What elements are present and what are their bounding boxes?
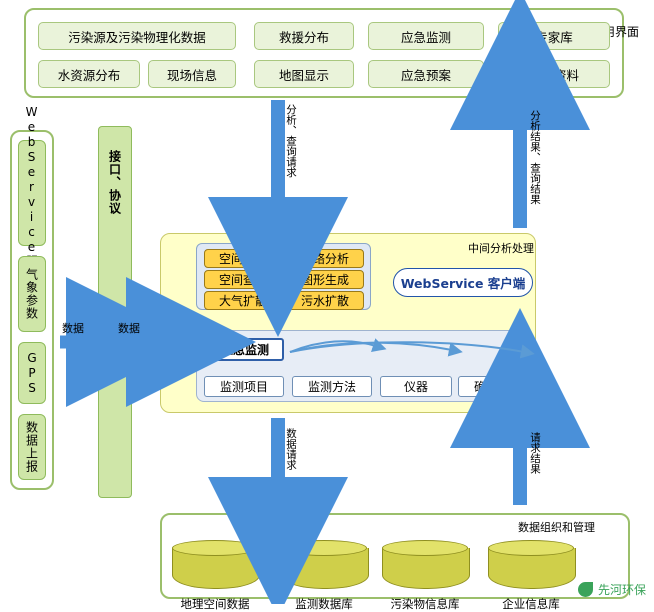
analysis-button-label: 空间分析 [219, 250, 267, 267]
left-item-label: WebService服务 [24, 105, 41, 281]
analysis-button-label: 网络分析 [301, 250, 349, 267]
arrow-label-data-right: 数据 [118, 320, 140, 336]
top-item-label: 污染源及污染物理化数据 [68, 27, 206, 46]
analysis-button-graphic-generation[interactable]: 图形生成 [286, 270, 364, 289]
arrow-label-query-result: 请求结果 [528, 432, 543, 474]
top-item-label: 专家库 [535, 27, 573, 46]
database-label: 污染物信息库 [377, 596, 473, 612]
database-enterprise-info[interactable]: 企业信息库 [488, 540, 574, 592]
cylinder-top [488, 540, 574, 556]
analysis-button-label: 空间查询 [219, 271, 267, 288]
top-item-rescue-distribution[interactable]: 救援分布 [254, 22, 354, 50]
top-item-emergency-plan[interactable]: 应急预案 [368, 60, 484, 88]
top-item-label: 应急预案 [401, 65, 451, 84]
data-management-label: 数据组织和管理 [518, 519, 628, 535]
top-item-label: 地图显示 [279, 65, 329, 84]
analysis-button-spatial-query[interactable]: 空间查询 [204, 270, 282, 289]
left-item-data-report[interactable]: 数据上报 [18, 414, 46, 480]
monitor-child-label: 仪器 [404, 378, 428, 395]
analysis-button-spatial-analysis[interactable]: 空间分析 [204, 249, 282, 268]
left-item-label: 数据上报 [24, 421, 41, 473]
monitor-child-determine-pollutant[interactable]: 确定污染物 [458, 376, 550, 397]
database-geospatial[interactable]: 地理空间数据 [172, 540, 258, 592]
top-item-label: 应急资料 [529, 65, 579, 84]
emergency-monitoring-node-label: 应急监测 [221, 341, 269, 358]
monitor-child-label: 确定污染物 [474, 378, 534, 395]
webservice-client-label: WebService 客户端 [401, 273, 526, 292]
cylinder-top [382, 540, 468, 556]
database-monitoring[interactable]: 监测数据库 [281, 540, 367, 592]
top-item-emergency-materials[interactable]: 应急资料 [498, 60, 610, 88]
database-label: 监测数据库 [276, 596, 372, 612]
top-item-label: 应急监测 [401, 27, 451, 46]
analysis-button-label: 图形生成 [301, 271, 349, 288]
left-item-label: 气象参数 [24, 268, 41, 320]
monitor-child-label: 监测方法 [308, 378, 356, 395]
top-item-expert-database[interactable]: 专家库 [498, 22, 610, 50]
analysis-button-network-analysis[interactable]: 网络分析 [286, 249, 364, 268]
top-item-label: 水资源分布 [58, 65, 121, 84]
top-item-emergency-monitoring[interactable]: 应急监测 [368, 22, 484, 50]
left-item-webservice[interactable]: WebService服务 [18, 140, 46, 246]
cylinder-top [281, 540, 367, 556]
arrow-label-analysis-result: 分析结果、查询结果 [528, 110, 543, 205]
monitor-child-method[interactable]: 监测方法 [292, 376, 372, 397]
diagram-canvas: 应用界面 污染源及污染物理化数据 救援分布 应急监测 专家库 水资源分布 现场信… [0, 0, 654, 604]
data-management-label-text: 数据组织和管理 [518, 521, 595, 534]
left-item-gps[interactable]: GPS [18, 342, 46, 404]
database-label: 地理空间数据 [167, 596, 263, 612]
analysis-button-label: 大气扩散 [219, 292, 267, 309]
middle-analysis-label: 中间分析处理 [468, 240, 558, 256]
monitor-child-label: 监测项目 [220, 378, 268, 395]
top-item-map-display[interactable]: 地图显示 [254, 60, 354, 88]
watermark: 先河环保 [578, 581, 646, 598]
left-item-label: GPS [25, 351, 39, 396]
analysis-button-label: 污水扩散 [301, 292, 349, 309]
monitor-child-project[interactable]: 监测项目 [204, 376, 284, 397]
arrow-label-data-request: 数据请求 [284, 428, 299, 470]
interface-protocol-label-text: 接口、协议 [107, 150, 124, 215]
webservice-client-node[interactable]: WebService 客户端 [393, 268, 533, 297]
analysis-button-sewage-diffusion[interactable]: 污水扩散 [286, 291, 364, 310]
middle-analysis-label-text: 中间分析处理 [468, 242, 534, 255]
cylinder-top [172, 540, 258, 556]
leaf-icon [578, 582, 593, 597]
top-item-site-info[interactable]: 现场信息 [148, 60, 236, 88]
emergency-monitoring-node[interactable]: 应急监测 [206, 338, 284, 361]
top-item-label: 救援分布 [279, 27, 329, 46]
top-item-water-resource-distribution[interactable]: 水资源分布 [38, 60, 140, 88]
analysis-button-air-diffusion[interactable]: 大气扩散 [204, 291, 282, 310]
top-item-label: 现场信息 [167, 65, 217, 84]
top-item-pollution-source-data[interactable]: 污染源及污染物理化数据 [38, 22, 236, 50]
interface-protocol-label: 接口、协议 [98, 150, 132, 219]
left-item-weather-params[interactable]: 气象参数 [18, 256, 46, 332]
watermark-text: 先河环保 [598, 581, 646, 598]
arrow-label-data-left: 数据 [62, 320, 84, 336]
monitor-child-instrument[interactable]: 仪器 [380, 376, 452, 397]
arrow-label-analysis-query-request: 分析、查询请求 [284, 104, 299, 178]
database-pollutant-info[interactable]: 污染物信息库 [382, 540, 468, 592]
database-label: 企业信息库 [483, 596, 579, 612]
